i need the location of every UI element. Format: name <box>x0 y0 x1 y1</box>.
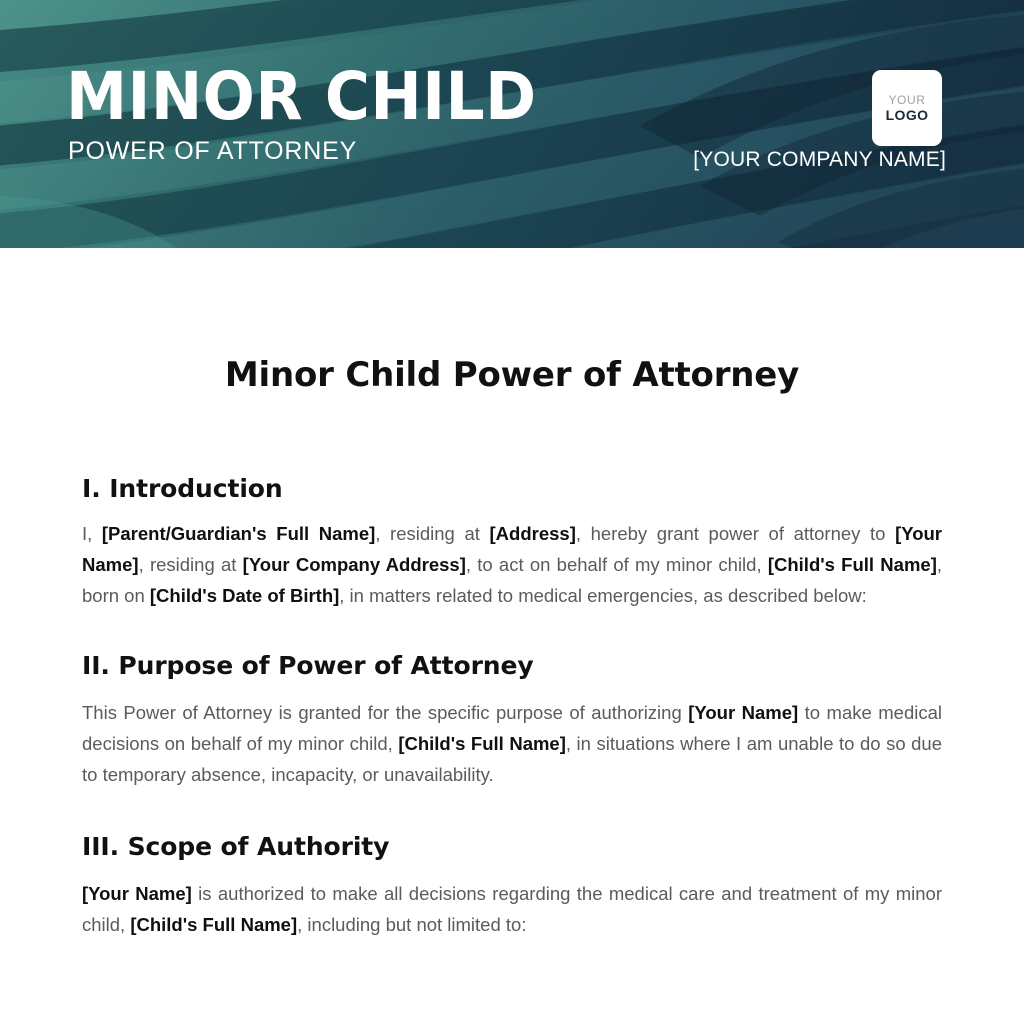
section-introduction: I. Introduction I, [Parent/Guardian's Fu… <box>0 474 1024 611</box>
logo-placeholder[interactable]: YOUR LOGO <box>872 70 942 146</box>
body-text-run: , in matters related to medical emergenc… <box>339 585 867 606</box>
section-heading-purpose: II. Purpose of Power of Attorney <box>82 651 942 681</box>
placeholder-field[interactable]: [Your Company Address] <box>243 554 466 575</box>
logo-text-your: YOUR <box>888 93 925 107</box>
body-text-run: This Power of Attorney is granted for th… <box>82 702 688 723</box>
section-heading-scope: III. Scope of Authority <box>82 832 942 862</box>
section-purpose: II. Purpose of Power of Attorney This Po… <box>0 651 1024 790</box>
body-text-run: , residing at <box>375 523 489 544</box>
logo-text-logo: LOGO <box>886 107 929 123</box>
body-text-run: , including but not limited to: <box>297 914 526 935</box>
body-text-run: , hereby grant power of attorney to <box>576 523 895 544</box>
section-body-scope: [Your Name] is authorized to make all de… <box>82 878 942 940</box>
banner-title: MINOR CHILD <box>66 62 537 132</box>
banner-subtitle: POWER OF ATTORNEY <box>68 136 572 166</box>
placeholder-field[interactable]: [Child's Date of Birth] <box>150 585 339 606</box>
company-name-placeholder: [YOUR COMPANY NAME] <box>693 148 946 172</box>
placeholder-field[interactable]: [Child's Full Name] <box>130 914 297 935</box>
section-scope: III. Scope of Authority [Your Name] is a… <box>0 832 1024 940</box>
placeholder-field[interactable]: [Your Name] <box>688 702 798 723</box>
placeholder-field[interactable]: [Child's Full Name] <box>398 733 566 754</box>
section-body-purpose: This Power of Attorney is granted for th… <box>82 697 942 790</box>
document-title: Minor Child Power of Attorney <box>0 248 1024 395</box>
body-text-run: , to act on behalf of my minor child, <box>466 554 768 575</box>
document-body: Minor Child Power of Attorney I. Introdu… <box>0 248 1024 940</box>
banner-brand-block: MINOR CHILD POWER OF ATTORNEY <box>66 62 572 166</box>
header-banner: MINOR CHILD POWER OF ATTORNEY YOUR LOGO … <box>0 0 1024 248</box>
placeholder-field[interactable]: [Your Name] <box>82 883 192 904</box>
section-body-introduction: I, [Parent/Guardian's Full Name], residi… <box>82 518 942 611</box>
placeholder-field[interactable]: [Parent/Guardian's Full Name] <box>102 523 375 544</box>
placeholder-field[interactable]: [Child's Full Name] <box>768 554 937 575</box>
placeholder-field[interactable]: [Address] <box>490 523 576 544</box>
body-text-run: , residing at <box>139 554 243 575</box>
section-heading-introduction: I. Introduction <box>82 474 942 504</box>
body-text-run: I, <box>82 523 102 544</box>
